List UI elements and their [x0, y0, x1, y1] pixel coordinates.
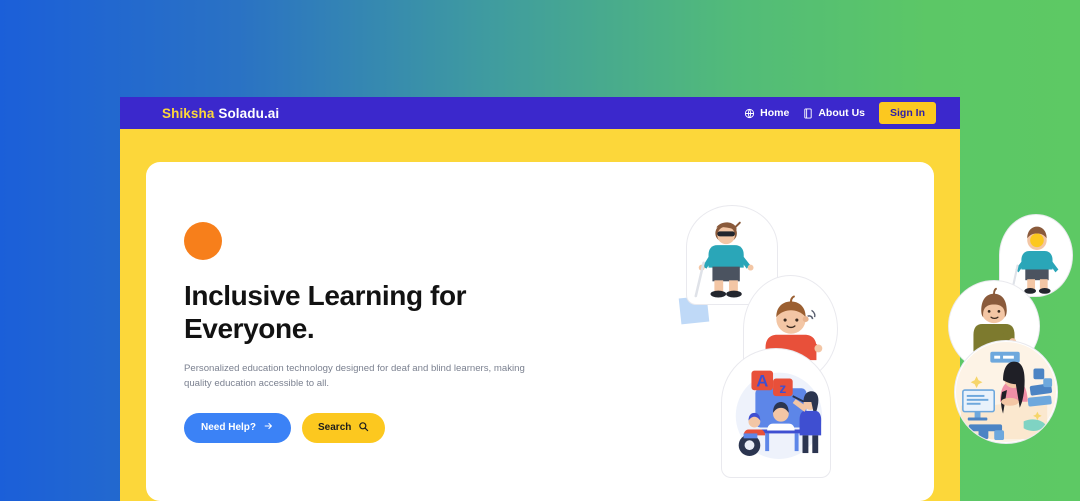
brand-name-first: Shiksha — [162, 106, 214, 121]
nav-link-about-us-label: About Us — [818, 107, 865, 119]
need-help-button[interactable]: Need Help? — [184, 413, 291, 443]
page-title: Inclusive Learning for Everyone. — [184, 279, 554, 345]
hero-copy-block: Inclusive Learning for Everyone. Persona… — [184, 222, 554, 443]
svg-text:A: A — [756, 371, 768, 390]
cta-button-row: Need Help? Search — [184, 413, 554, 443]
hero-subtext: Personalized education technology design… — [184, 362, 536, 392]
orange-circle-decoration — [184, 222, 222, 260]
nav-link-home[interactable]: Home — [744, 107, 789, 119]
illustration-classroom-abc-lesson: A z — [721, 348, 831, 478]
search-button[interactable]: Search — [302, 413, 385, 443]
nav-link-home-label: Home — [760, 107, 789, 119]
book-icon — [803, 108, 813, 119]
search-button-label: Search — [318, 422, 351, 433]
illustration-woman-at-desk-online — [954, 340, 1058, 444]
brand-name-second: Soladu.ai — [218, 106, 279, 121]
arrow-right-icon — [263, 421, 274, 434]
sign-in-button[interactable]: Sign In — [879, 102, 936, 124]
globe-icon — [744, 108, 755, 119]
yellow-frame: Inclusive Learning for Everyone. Persona… — [120, 129, 960, 501]
search-icon — [358, 421, 369, 435]
nav-link-about-us[interactable]: About Us — [803, 107, 865, 119]
hero-white-card: Inclusive Learning for Everyone. Persona… — [146, 162, 934, 501]
need-help-button-label: Need Help? — [201, 422, 256, 433]
nav-links-group: Home About Us Sign In — [744, 97, 960, 129]
hero-illustration-area: A z — [536, 200, 934, 500]
brand-logo[interactable]: Shiksha Soladu.ai — [162, 106, 279, 121]
svg-text:z: z — [779, 381, 786, 396]
page-frame: Shiksha Soladu.ai Home About Us — [120, 97, 960, 501]
top-navigation-bar: Shiksha Soladu.ai Home About Us — [120, 97, 960, 129]
